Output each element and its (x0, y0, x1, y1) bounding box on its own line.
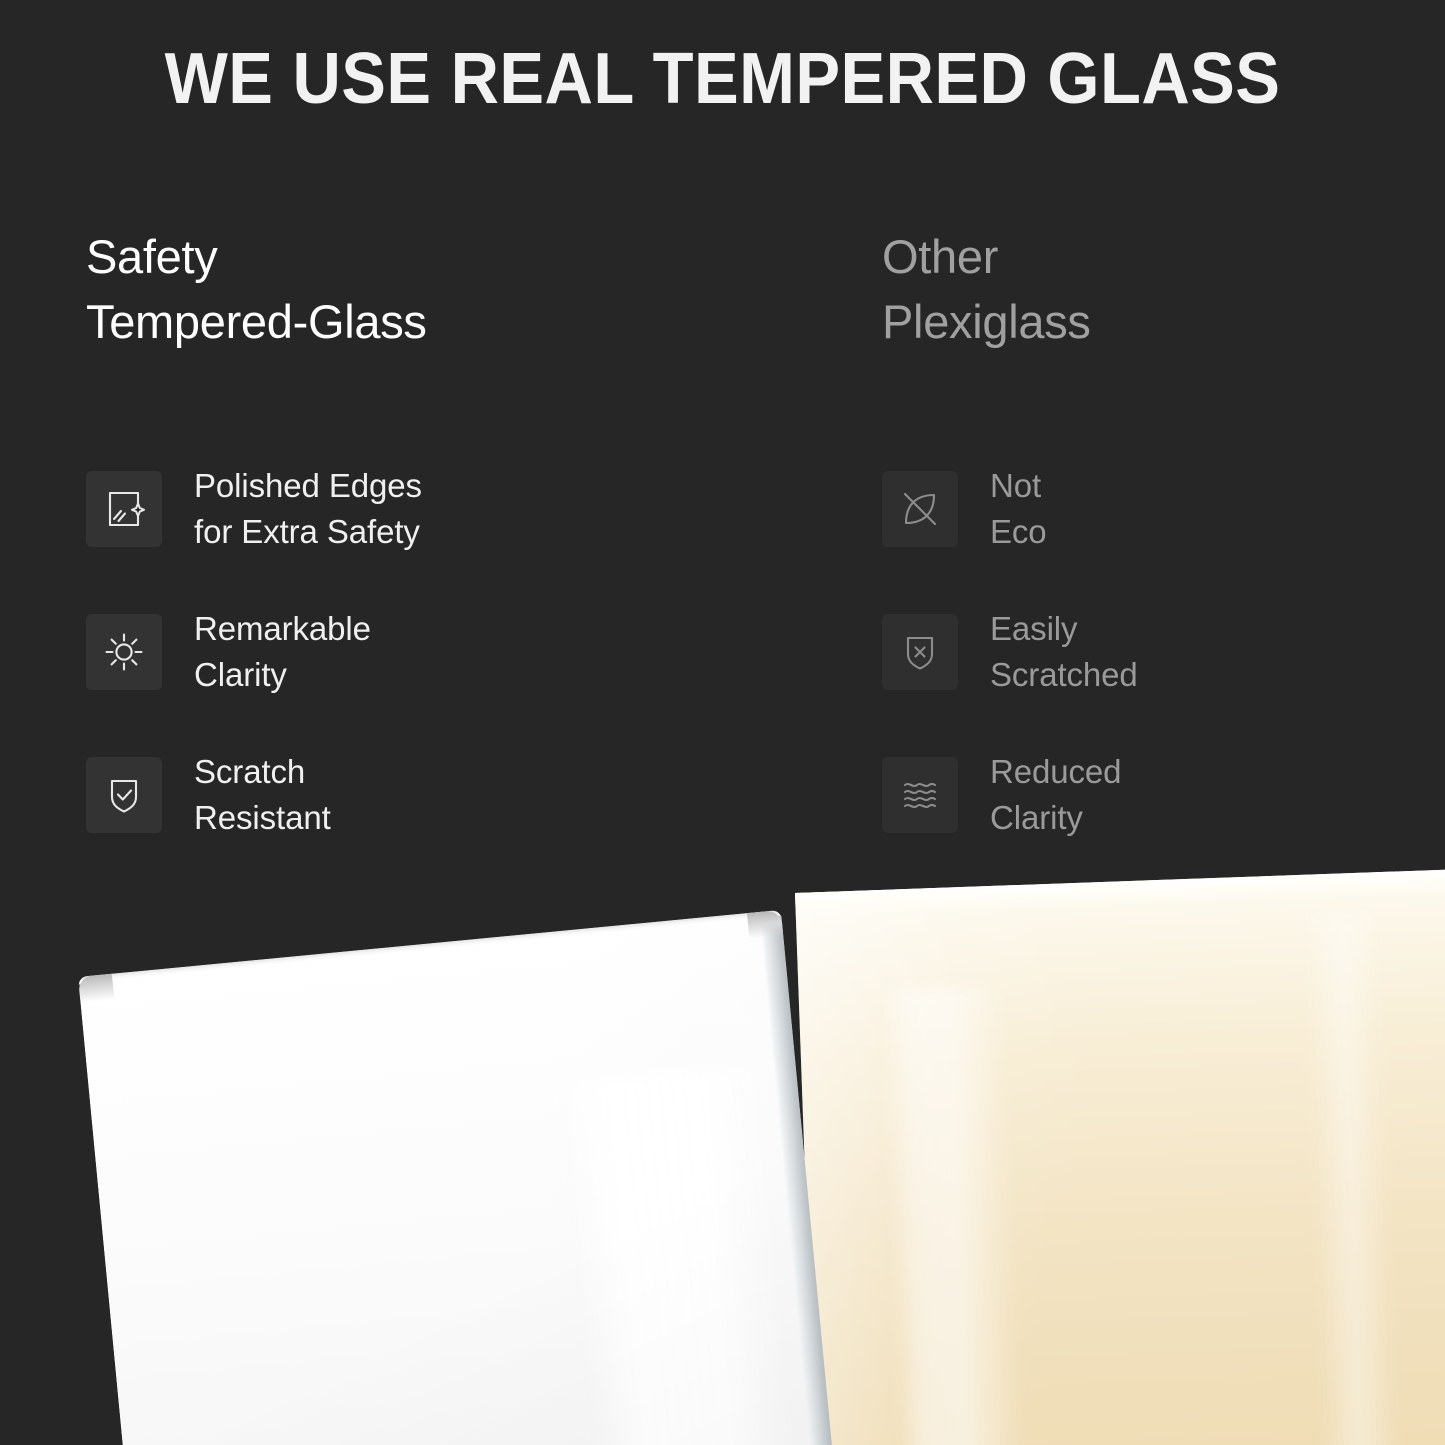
feature-not-eco: Not Eco (882, 437, 1442, 580)
plexiglass-panel (795, 868, 1445, 1445)
feature-label: Remarkable Clarity (194, 606, 371, 696)
feature-easily-scratched: Easily Scratched (882, 580, 1442, 723)
comparison-columns: Safety Tempered-Glass Polished Edges for… (0, 225, 1445, 845)
comparison-poster: WE USE REAL TEMPERED GLASS Safety Temper… (0, 0, 1445, 1445)
wavy-lines-icon (882, 757, 958, 833)
feature-label: Easily Scratched (990, 606, 1138, 696)
column-tempered-glass: Safety Tempered-Glass Polished Edges for… (86, 225, 646, 355)
column-heading-right: Other Plexiglass (882, 225, 1442, 355)
feature-label: Polished Edges for Extra Safety (194, 463, 422, 553)
feature-label: Not Eco (990, 463, 1047, 553)
glass-panels-illustration (0, 845, 1445, 1445)
polished-glass-panel-icon (86, 471, 162, 547)
tempered-glass-panel (78, 910, 832, 1445)
page-title: WE USE REAL TEMPERED GLASS (51, 42, 1395, 118)
tempered-glass-shading (78, 910, 832, 1445)
leaf-crossed-out-icon (882, 471, 958, 547)
feature-label: Scratch Resistant (194, 749, 331, 839)
feature-list-left: Polished Edges for Extra Safety (86, 437, 646, 866)
feature-label: Reduced Clarity (990, 749, 1121, 839)
plexiglass-sheen (1306, 912, 1397, 1445)
sun-brightness-icon (86, 614, 162, 690)
shield-x-icon (882, 614, 958, 690)
column-plexiglass: Other Plexiglass Not Eco (882, 225, 1442, 355)
column-heading-left: Safety Tempered-Glass (86, 225, 646, 355)
feature-remarkable-clarity: Remarkable Clarity (86, 580, 646, 723)
feature-polished-edges: Polished Edges for Extra Safety (86, 437, 646, 580)
shield-check-icon (86, 757, 162, 833)
feature-list-right: Not Eco Easily Scratched (882, 437, 1442, 866)
